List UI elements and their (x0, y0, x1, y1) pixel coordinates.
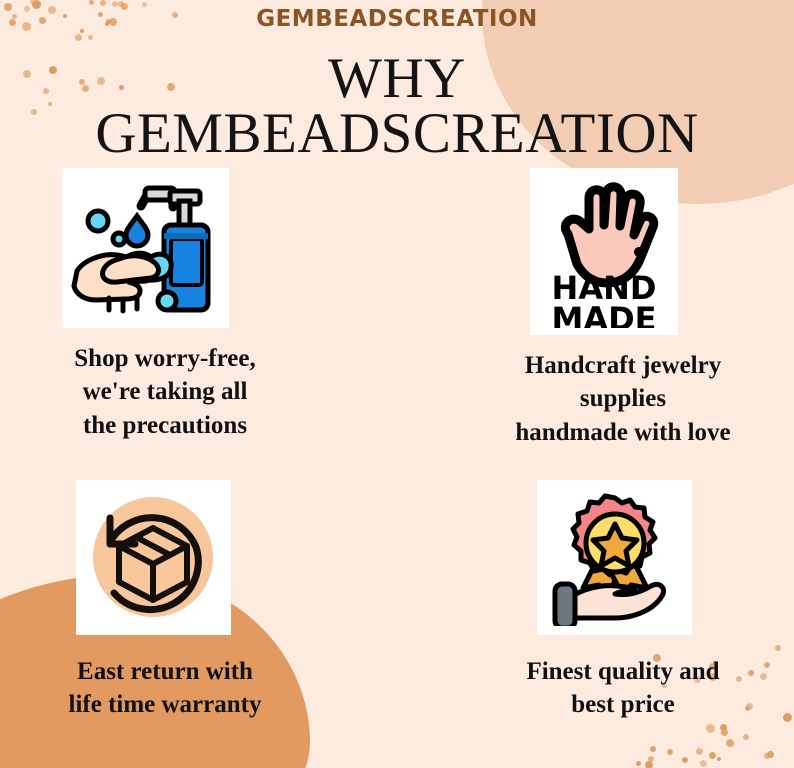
feature-cell-handmade: HAND MADE Handcraft jewelry supplies han… (397, 168, 794, 468)
promo-poster: GEMBEADSCREATION WHYGEMBEADSCREATION (0, 0, 794, 768)
page-title-line: WHY (328, 47, 466, 110)
handmade-hand-stamp-icon: HAND MADE (538, 176, 670, 328)
feature-caption: Shop worry-free, we're taking all the pr… (0, 342, 330, 442)
handwashing-soap-dispenser-icon (71, 177, 221, 320)
hand-holding-quality-award-icon (547, 490, 683, 626)
feature-caption: Handcraft jewelry supplies handmade with… (453, 349, 793, 449)
decorative-dot (30, 0, 34, 4)
feature-icon-card: HAND MADE (530, 168, 678, 335)
brand-name: GEMBEADSCREATION (0, 6, 794, 32)
page-title: WHYGEMBEADSCREATION (0, 52, 794, 161)
return-box-arrow-icon (86, 490, 221, 625)
feature-caption: East return with life time warranty (0, 655, 330, 722)
decorative-dot (75, 34, 82, 41)
feature-icon-card (76, 480, 231, 635)
feature-cell-precautions: Shop worry-free, we're taking all the pr… (0, 168, 397, 468)
feature-icon-card (537, 480, 692, 635)
decorative-dot (89, 0, 94, 5)
decorative-dot (88, 35, 93, 40)
feature-icon-card (62, 168, 229, 328)
feature-cell-quality: Finest quality and best price (397, 468, 794, 768)
page-title-line: GEMBEADSCREATION (95, 102, 698, 165)
feature-cell-return: East return with life time warranty (0, 468, 397, 768)
feature-caption: Finest quality and best price (453, 655, 793, 722)
handmade-line-2: MADE (551, 300, 656, 328)
feature-grid: Shop worry-free, we're taking all the pr… (0, 168, 794, 768)
